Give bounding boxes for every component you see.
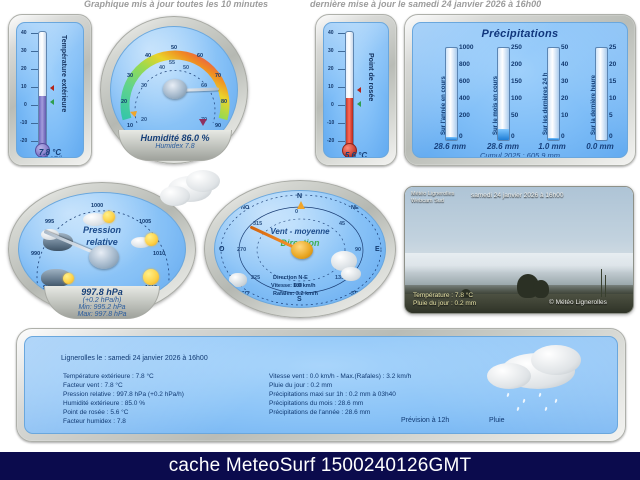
webcam-temperature: Température : 7.8 °C [413, 292, 473, 299]
cloud-decoration-3 [160, 186, 190, 206]
header-left-note: Graphique mis à jour toutes les 10 minut… [84, 0, 268, 9]
summary-right-4: Précipitations de l'année : 28.6 mm [269, 409, 370, 416]
humidex-value: Humidex 7.8 [119, 143, 231, 150]
dewpoint-value: 5.6 °C [324, 151, 388, 158]
summary-left-4: Point de rosée : 5.6 °C [63, 409, 128, 416]
rain-drop [554, 399, 557, 403]
wind-direction-gauge[interactable]: N NO NE O E SO SE S 0 45 90 135 180 225 … [204, 180, 396, 318]
summary-left-1: Facteur vent : 7.8 °C [63, 382, 123, 389]
webcam-rain: Pluie du jour : 0.2 mm [413, 300, 476, 307]
wind-gust-text: Rafales: 3.2 km/h [273, 291, 318, 297]
pressure-trend: (+0.2 hPa/h) [45, 297, 159, 304]
precip-bar-year-label: Sur l'année en cours [441, 76, 447, 135]
summary-panel[interactable]: Lignerolles le : samedi 24 janvier 2026 … [16, 328, 626, 442]
webcam-corner-label-2: Webcam Sud [411, 198, 444, 204]
humidity-value: Humidité 86.0 % [119, 133, 231, 143]
wind-speed-text: Vitesse: 0.0 km/h [271, 283, 316, 289]
dewpoint-thermometer-panel[interactable]: 40 30 20 10 0 -10 -20 Point de r [315, 14, 397, 166]
precip-hour-value: 0.0 mm [573, 142, 627, 151]
forecast-cloud-icon-3 [487, 363, 531, 389]
status-bar: cache MeteoSurf 1500240126GMT [0, 452, 640, 480]
rain-drop [544, 407, 547, 411]
precip-bar-month-label: Sur le mois en cours [493, 76, 499, 135]
summary-left-0: Température extérieure : 7.8 °C [63, 373, 154, 380]
precipitation-panel[interactable]: Précipitations Sur l'année en cours 1000… [404, 14, 636, 166]
status-bar-text: cache MeteoSurf 1500240126GMT [0, 452, 640, 480]
summary-heading: Lignerolles le : samedi 24 janvier 2026 … [61, 355, 208, 362]
precipitation-title: Précipitations [413, 28, 627, 40]
summary-left-2: Pression relative : 997.8 hPa (+0.2 hPa/… [63, 391, 184, 398]
header-right-note: dernière mise à jour le samedi 24 janvie… [310, 0, 541, 9]
cloud-decoration-2 [186, 170, 220, 192]
precip-bar-hour-label: Sur la dernière heure [591, 75, 597, 135]
webcam-corner-label-1: Météo Lignerolles [411, 191, 454, 197]
humidity-readout: Humidité 86.0 % Humidex 7.8 [118, 130, 232, 161]
rain-drop [506, 393, 509, 397]
dewpoint-thermometer-label: Point de rosée [367, 53, 374, 101]
forecast-label: Prévision à 12h [401, 417, 449, 424]
rain-drop [538, 393, 541, 397]
precipitation-total: Cumul 2025 : 605.9 mm [413, 151, 627, 158]
precip-bar-24h-label: Sur les dernières 24 h [543, 73, 549, 135]
summary-left-3: Humidité extérieure : 85.0 % [63, 400, 145, 407]
wind-title-1: Vent - moyenne [215, 227, 385, 236]
outdoor-thermometer-trend: -0.2 °C/h [17, 156, 83, 158]
summary-left-5: Facteur humidex : 7.8 [63, 418, 126, 425]
pressure-min: Min: 995.2 hPa [45, 304, 159, 311]
precip-year-value: 28.6 mm [421, 142, 479, 151]
wind-direction-text: Direction N-E [273, 275, 308, 281]
forecast-cloud-icon-2 [531, 345, 581, 375]
summary-right-1: Pluie du jour : 0.2 mm [269, 382, 332, 389]
summary-right-0: Vitesse vent : 0.0 km/h - Max.(Rafales) … [269, 373, 411, 380]
pressure-readout: 997.8 hPa (+0.2 hPa/h) Min: 995.2 hPa Ma… [44, 286, 160, 319]
outdoor-thermometer-panel[interactable]: 40 30 20 10 0 -10 -20 Températur [8, 14, 92, 166]
outdoor-thermometer-label: Température extérieure [60, 35, 67, 112]
rain-drop [522, 399, 525, 403]
rain-drop [516, 407, 519, 411]
precip-24h-value: 1.0 mm [525, 142, 579, 151]
forecast-value: Pluie [489, 417, 505, 424]
webcam-copyright: © Météo Lignerolles [549, 299, 607, 306]
precip-month-value: 28.6 mm [475, 142, 531, 151]
pressure-value: 997.8 hPa [45, 287, 159, 297]
pressure-max: Max: 997.8 hPa [45, 311, 159, 318]
summary-right-2: Précipitations maxi sur 1h : 0.2 mm à 03… [269, 391, 396, 398]
webcam-timestamp: samedi 24 janvier 2026 à 16h00 [471, 192, 564, 199]
weather-dashboard: Graphique mis à jour toutes les 10 minut… [0, 0, 640, 480]
header-notes: Graphique mis à jour toutes les 10 minut… [0, 0, 640, 13]
summary-right-3: Précipitations du mois : 28.6 mm [269, 400, 363, 407]
webcam-view[interactable]: Météo Lignerolles Webcam Sud samedi 24 j… [404, 186, 634, 314]
